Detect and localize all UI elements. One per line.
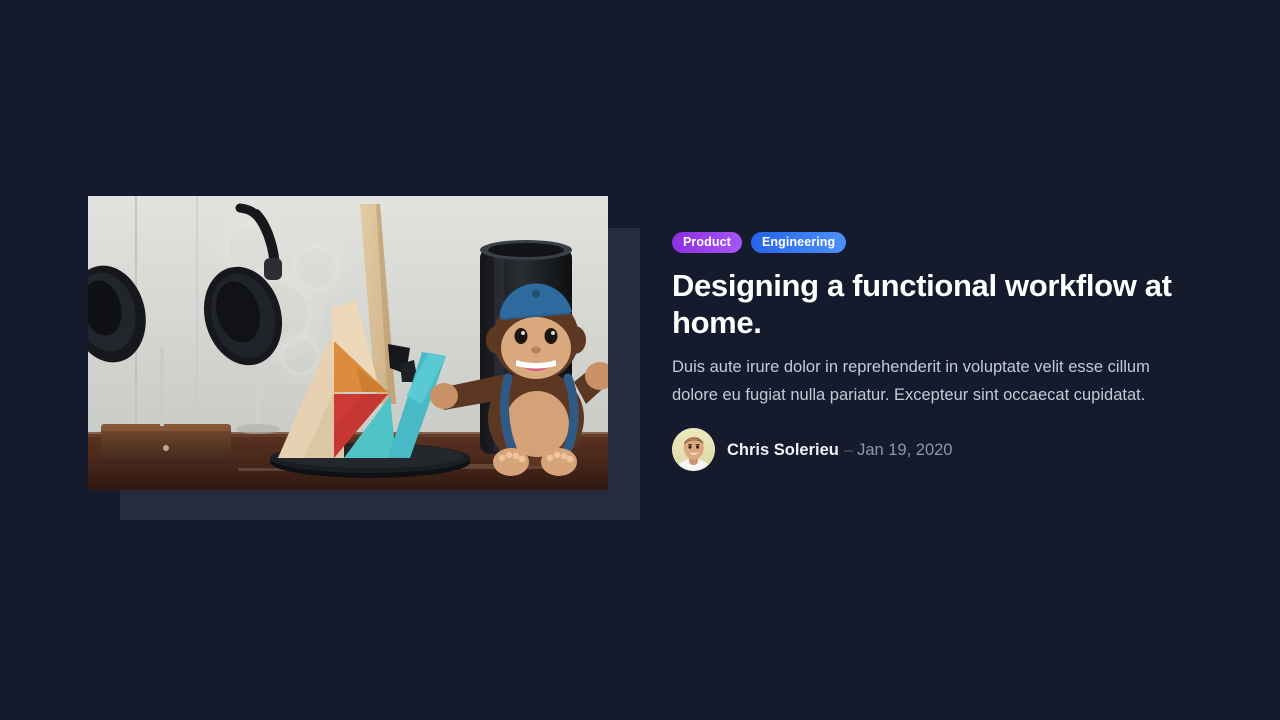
byline-separator: – <box>844 441 853 459</box>
tag-product[interactable]: Product <box>672 232 742 253</box>
article-byline: Chris Solerieu–Jan 19, 2020 <box>672 428 1200 471</box>
article-card[interactable]: Product Engineering Designing a function… <box>0 0 1280 720</box>
avatar-photo-icon <box>672 428 715 471</box>
publish-date: Jan 19, 2020 <box>857 441 952 459</box>
byline-text: Chris Solerieu–Jan 19, 2020 <box>727 440 952 460</box>
article-photo-icon <box>88 196 608 490</box>
page-root: Product Engineering Designing a function… <box>0 0 1280 720</box>
article-photo[interactable] <box>88 196 608 490</box>
article-text-column: Product Engineering Designing a function… <box>672 232 1200 471</box>
article-media[interactable] <box>88 196 640 520</box>
article-excerpt: Duis aute irure dolor in reprehenderit i… <box>672 353 1194 409</box>
author-name[interactable]: Chris Solerieu <box>727 441 839 459</box>
tag-row: Product Engineering <box>672 232 1200 253</box>
avatar[interactable] <box>672 428 715 471</box>
tag-engineering[interactable]: Engineering <box>751 232 846 253</box>
article-title[interactable]: Designing a functional workflow at home. <box>672 267 1192 341</box>
